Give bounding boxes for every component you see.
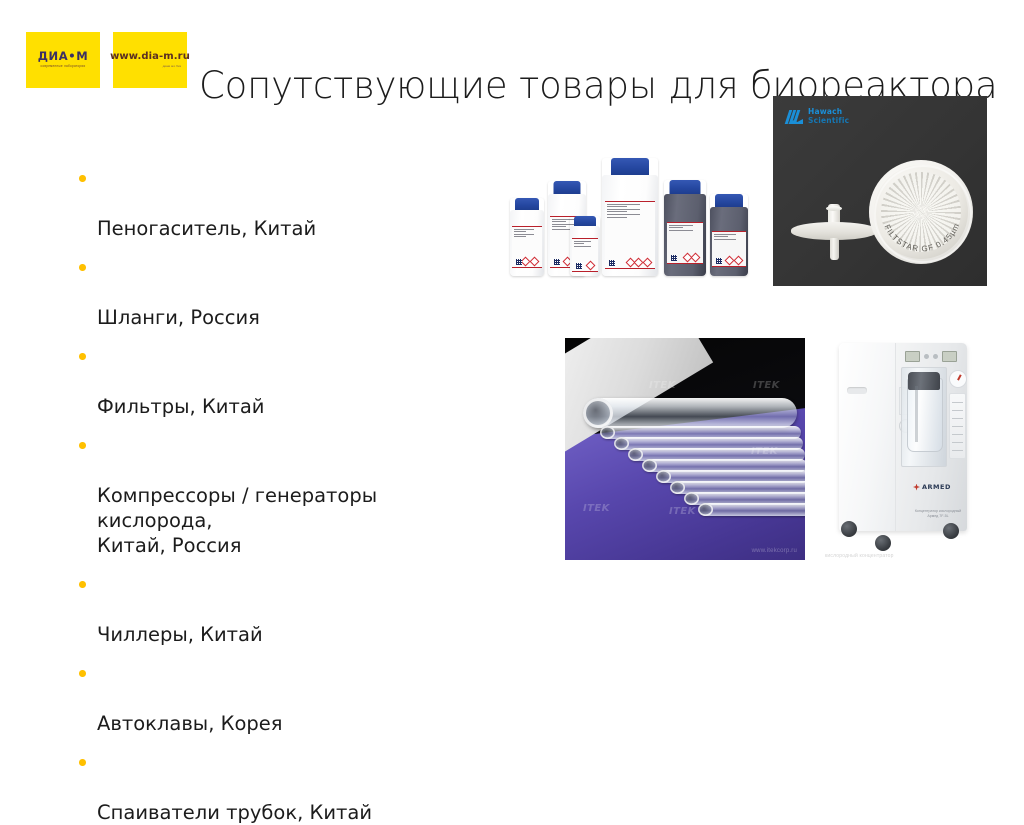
bullet-dot-icon xyxy=(79,759,86,766)
bottle xyxy=(664,180,706,276)
bullet-list: Пеногаситель, Китай Шланги, Россия Фильт… xyxy=(70,166,490,825)
logo-website-url: www.dia-m.ru xyxy=(110,52,190,62)
logo-diam: ДИА•М современные лаборатории xyxy=(26,32,100,88)
concentrator-display-right xyxy=(942,351,957,362)
concentrator-body: ARMED Концентратор кислородный Армед 7F-… xyxy=(839,343,967,531)
bottle xyxy=(510,198,544,276)
list-item: Спаиватели трубок, Китай xyxy=(70,750,490,825)
armed-mark-icon xyxy=(913,484,920,491)
image-reagent-bottles xyxy=(492,143,760,290)
bullet-dot-icon xyxy=(79,175,86,182)
logo-diam-tagline: современные лаборатории xyxy=(41,65,86,68)
bullet-dot-icon xyxy=(79,353,86,360)
list-item: Компрессоры / генераторы кислорода, Кита… xyxy=(70,433,490,558)
hawach-mark-icon xyxy=(787,109,804,124)
slide-canvas: ДИА•М современные лаборатории www.dia-m.… xyxy=(0,0,1024,576)
bottle xyxy=(710,194,748,276)
concentrator-button-down xyxy=(933,354,938,359)
concentrator-humidifier-chamber xyxy=(901,367,947,467)
concentrator-side-panel xyxy=(839,343,896,531)
concentrator-caster xyxy=(875,535,891,551)
logo-diam-wordmark: ДИА•М xyxy=(38,51,89,63)
image-silicone-tubing: ITEK ITEK ITEK ITEK ITEK www.itekcorp.ru xyxy=(565,338,805,560)
image-oxygen-concentrator: ARMED Концентратор кислородный Армед 7F-… xyxy=(823,333,993,563)
concentrator-floor-caption: кислородный концентратор xyxy=(825,553,894,559)
list-item-label: Автоклавы, Корея xyxy=(97,712,282,735)
list-item: Фильтры, Китай xyxy=(70,344,490,419)
logo-website: www.dia-m.ru диам эго биз xyxy=(113,32,187,88)
tubing-watermark-url: www.itekcorp.ru xyxy=(752,548,797,554)
tubing-stack xyxy=(579,390,805,540)
bottle xyxy=(602,158,658,276)
bullet-dot-icon xyxy=(79,442,86,449)
concentrator-pressure-gauge xyxy=(949,370,967,388)
concentrator-button-up xyxy=(924,354,929,359)
concentrator-handle xyxy=(847,387,867,394)
list-item-label: Спаиватели трубок, Китай xyxy=(97,801,372,824)
hawach-logo: Hawach Scientific xyxy=(787,108,849,125)
syringe-filter-side-view xyxy=(791,198,877,260)
tube xyxy=(699,503,805,516)
hawach-line-2: Scientific xyxy=(808,117,849,126)
concentrator-brand: ARMED xyxy=(913,483,951,491)
hawach-wordmark: Hawach Scientific xyxy=(808,108,849,125)
bullet-dot-icon xyxy=(79,581,86,588)
concentrator-caster xyxy=(841,521,857,537)
bullet-dot-icon xyxy=(79,670,86,677)
syringe-filter-face-view: FILTSTAR GF 0.45µm xyxy=(869,160,973,264)
concentrator-control-panel xyxy=(903,350,959,362)
list-item-label: Компрессоры / генераторы кислорода, Кита… xyxy=(97,484,377,557)
list-item-label: Фильтры, Китай xyxy=(97,395,264,418)
list-item: Автоклавы, Корея xyxy=(70,661,490,736)
list-item: Пеногаситель, Китай xyxy=(70,166,490,241)
tube xyxy=(585,398,797,428)
bottle xyxy=(570,216,600,276)
list-item: Чиллеры, Китай xyxy=(70,572,490,647)
list-item-label: Чиллеры, Китай xyxy=(97,623,263,646)
image-syringe-filters: Hawach Scientific FILTSTAR GF 0.45µm xyxy=(773,96,987,286)
list-item: Шланги, Россия xyxy=(70,255,490,330)
logo-website-tagline: диам эго биз xyxy=(163,65,181,68)
list-item-label: Пеногаситель, Китай xyxy=(97,217,316,240)
concentrator-caster xyxy=(943,523,959,539)
concentrator-display-left xyxy=(905,351,920,362)
bullet-dot-icon xyxy=(79,264,86,271)
armed-wordmark: ARMED xyxy=(922,483,951,491)
concentrator-flow-meter xyxy=(949,393,966,459)
concentrator-model-text: Концентратор кислородный Армед 7F-5L xyxy=(911,509,965,519)
list-item-label: Шланги, Россия xyxy=(97,306,260,329)
